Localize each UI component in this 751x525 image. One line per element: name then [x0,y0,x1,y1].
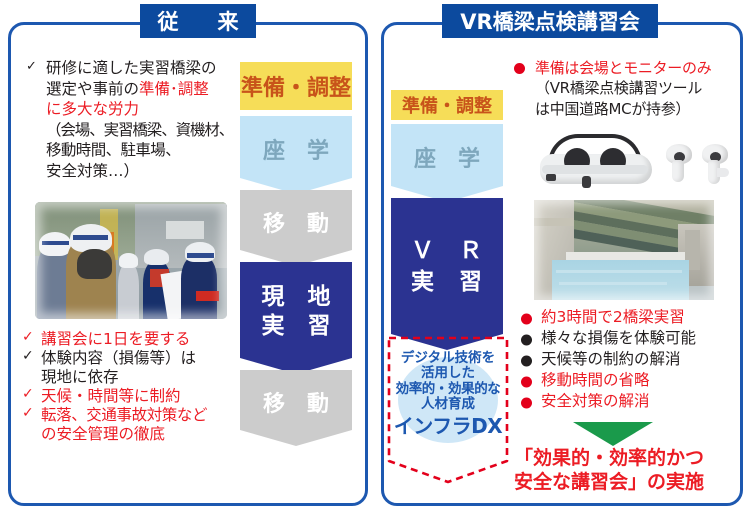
dx-line-2: 活用した [386,366,510,381]
vr-bullet-list: 約3時間で2橋梁実習 様々な損傷を体験可能 天候等の制約の解消 移動時間の省略 … [520,308,742,413]
conclusion-line-2: 安全な講習会」の実施 [514,471,744,495]
legacy-top-note: ✓ 研修に適した実習橋梁の 選定や事前の準備･調整 に多大な労力 （会場、実習橋… [26,58,238,182]
bullet-dot-icon [521,376,532,387]
flow-step-label: 準備・調整 [241,70,351,102]
flow-step-label: 移 動 [263,386,329,418]
panel-vr-title: VR橋梁点検講習会 [442,4,658,38]
flow-step-label: Ｖ Ｒ 実 習 [411,236,483,298]
dx-description: デジタル技術を 活用した 効率的・効果的な 人材育成 インフラDX [386,351,510,438]
panel-legacy-title: 従 来 [140,4,256,38]
list-item: ✓ 体験内容（損傷等）は 現地に依存 [22,349,236,387]
flow-step-label: 準備・調整 [402,92,492,118]
dx-headline: インフラDX [386,415,510,438]
flow-step-preparation: 準備・調整 [240,62,352,110]
check-icon: ✓ [22,386,34,403]
vr-top-note: 準備は会場とモニターのみ （VR橋梁点検講習ツール は中国道路MCが持参） [513,58,745,119]
check-icon: ✓ [22,348,34,365]
flow-step-vr-training: Ｖ Ｒ 実 習 [391,198,503,350]
vr-note-line-1: 準備は会場とモニターのみ [535,58,745,78]
vr-dx-callout: デジタル技術を 活用した 効率的・効果的な 人材育成 インフラDX [386,335,510,485]
bullet-dot-icon [521,313,532,324]
bullet-dot-icon [521,334,532,345]
flow-step-lecture: 座 学 [240,116,352,194]
bullet-text-cont: 現地に依存 [41,368,236,387]
bullet-text: 移動時間の省略 [541,371,650,389]
flow-step-label: 現 地 実 習 [262,283,331,342]
list-item: ✓ 転落、交通事故対策など の安全管理の徹底 [22,406,236,444]
legacy-bullet-list: ✓ 講習会に1日を要する ✓ 体験内容（損傷等）は 現地に依存 ✓ 天候・時間等… [22,330,236,443]
list-item: 約3時間で2橋梁実習 [520,308,742,329]
list-item: ✓ 講習会に1日を要する [22,330,236,349]
list-item: 天候等の制約の解消 [520,350,742,371]
legacy-note-line-2: 選定や事前の準備･調整 [46,79,238,100]
bullet-text: 天候・時間等に制約 [41,387,236,406]
bullet-text: 安全対策の解消 [541,392,650,410]
flow-step-lecture: 座 学 [391,124,503,202]
dx-line-4: 人材育成 [386,397,510,412]
flow-step-label: 座 学 [414,141,480,173]
check-icon: ✓ [22,405,34,422]
dx-line-1: デジタル技術を [386,351,510,366]
list-item: ✓ 天候・時間等に制約 [22,387,236,406]
legacy-note-line-5: 移動時間、駐車場、 [46,140,238,161]
vr-conclusion: 「効果的・効率的かつ 安全な講習会」の実施 [514,447,744,495]
legacy-note-line-4: （会場、実習橋梁、資機材、 [46,120,238,141]
bullet-text: 様々な損傷を体験可能 [541,329,696,347]
bullet-text: 講習会に1日を要する [41,330,236,349]
legacy-note-line-6: 安全対策…） [46,161,238,182]
vr-flow-column: 準備・調整 座 学 Ｖ Ｒ 実 習 [391,90,503,350]
legacy-note-line-1: 研修に適した実習橋梁の [46,58,238,79]
flow-step-preparation: 準備・調整 [391,90,503,120]
list-item: 移動時間の省略 [520,371,742,392]
vr-note-line-2: （VR橋梁点検講習ツール [535,78,745,98]
vr-bridge-render-photo [534,200,714,300]
check-icon: ✓ [22,329,34,346]
conclusion-line-1: 「効果的・効率的かつ [514,447,744,471]
legacy-note-line-3: に多大な労力 [46,99,238,120]
bullet-text: 体験内容（損傷等）は [41,349,236,368]
flow-step-travel-1: 移 動 [240,190,352,266]
bullet-text: 天候等の制約の解消 [541,350,681,368]
bullet-dot-icon [514,63,525,74]
vr-note-line-3: は中国道路MCが持参） [535,99,745,119]
bullet-text-cont: の安全管理の徹底 [41,425,236,444]
bullet-text: 転落、交通事故対策など [41,406,236,425]
dx-line-3: 効率的・効果的な [386,382,510,397]
vr-headset-photo [538,132,734,194]
flow-step-label: 座 学 [263,133,329,165]
bullet-dot-icon [521,397,532,408]
bullet-text: 約3時間で2橋梁実習 [541,308,685,326]
bullet-dot-icon [521,355,532,366]
flow-step-onsite-training: 現 地 実 習 [240,262,352,374]
list-item: 安全対策の解消 [520,392,742,413]
check-icon: ✓ [26,58,37,75]
list-item: 様々な損傷を体験可能 [520,329,742,350]
slide-root: 従 来 ✓ 研修に適した実習橋梁の 選定や事前の準備･調整 に多大な労力 （会場… [0,0,751,525]
flow-step-label: 移 動 [263,206,329,238]
legacy-training-photo [35,202,227,319]
legacy-flow-column: 準備・調整 座 学 移 動 現 地 実 習 移 動 [240,62,352,446]
flow-step-travel-2: 移 動 [240,370,352,446]
